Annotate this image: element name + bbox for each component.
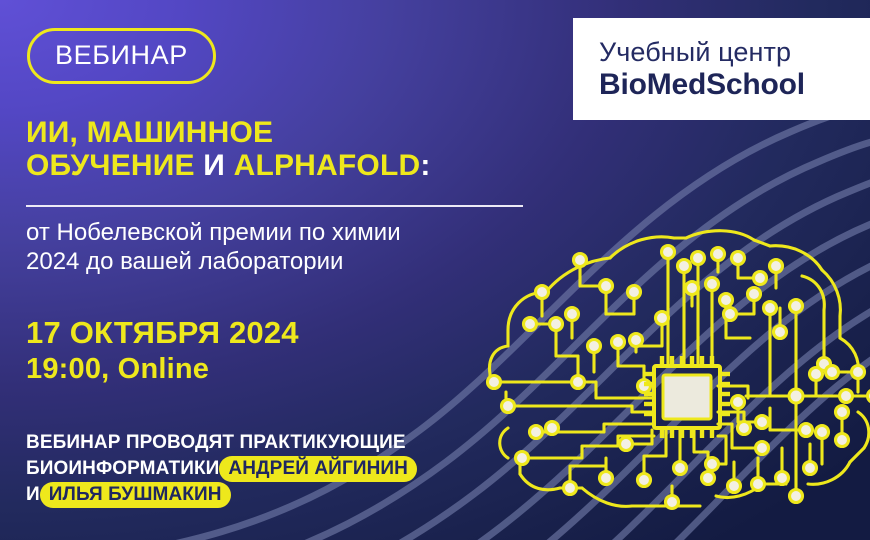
presenters-line-2-prefix: БИОИНФОРМАТИКИ <box>26 458 219 479</box>
presenter-name-1: АНДРЕЙ АЙГИНИН <box>219 456 417 482</box>
logo-brand-name: BioMedSchool <box>599 68 870 102</box>
event-date: 17 ОКТЯБРЯ 2024 <box>26 314 299 351</box>
headline-alphafold: ALPHAFOLD <box>225 149 420 182</box>
page-subtitle: от Нобелевской премии по химии 2024 до в… <box>26 218 546 276</box>
headline-line-1: ИИ, МАШИННОЕ <box>26 116 531 149</box>
presenters-line-2: БИОИНФОРМАТИКИАНДРЕЙ АЙГИНИН <box>26 456 526 482</box>
headline-colon: : <box>420 149 430 182</box>
presenter-name-2: ИЛЬЯ БУШМАКИН <box>40 482 231 508</box>
page-title: ИИ, МАШИННОЕ ОБУЧЕНИЕ И ALPHAFOLD: <box>26 116 531 182</box>
cpu-chip-icon <box>644 356 730 438</box>
logo-subtitle: Учебный центр <box>599 37 870 68</box>
headline-obuchenie: ОБУЧЕНИЕ <box>26 149 203 182</box>
presenters-block: ВЕБИНАР ПРОВОДЯТ ПРАКТИКУЮЩИЕ БИОИНФОРМА… <box>26 430 526 508</box>
headline-line-1-text: ИИ, МАШИННОЕ <box>26 116 273 149</box>
presenters-line-3: ИИЛЬЯ БУШМАКИН <box>26 482 526 508</box>
headline-conjunction: И <box>203 149 225 182</box>
title-divider <box>26 205 523 207</box>
brand-logo-plate: Учебный центр BioMedSchool <box>573 18 870 120</box>
presenters-line-1: ВЕБИНАР ПРОВОДЯТ ПРАКТИКУЮЩИЕ <box>26 430 526 456</box>
presenters-line-3-prefix: И <box>26 484 40 505</box>
subtitle-line-1: от Нобелевской премии по химии <box>26 218 546 247</box>
subtitle-line-2: 2024 до вашей лаборатории <box>26 247 546 276</box>
event-time: 19:00, Online <box>26 351 299 387</box>
webinar-promo-banner: Учебный центр BioMedSchool ВЕБИНАР ИИ, М… <box>0 0 870 540</box>
headline-line-2: ОБУЧЕНИЕ И ALPHAFOLD: <box>26 149 531 182</box>
event-datetime: 17 ОКТЯБРЯ 2024 19:00, Online <box>26 314 299 387</box>
webinar-badge: ВЕБИНАР <box>27 28 216 84</box>
